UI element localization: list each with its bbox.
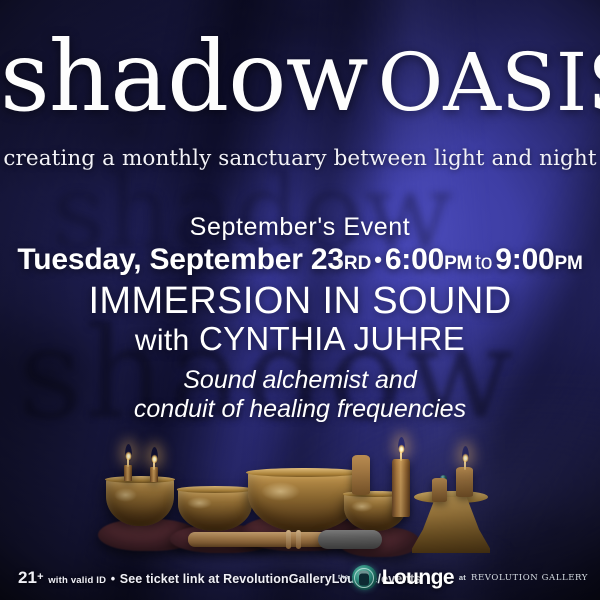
poster-content: shadowOASIS creating a monthly sanctuary… [0,0,600,600]
event-start-ampm: PM [444,253,472,274]
performer-description-line-2: conduit of healing frequencies [0,395,600,424]
lounge-emblem-icon [352,565,377,590]
event-performer-line: with CYNTHIA JUHRE [0,320,600,358]
event-start-time: 6:00 [385,243,444,276]
event-to-word: to [475,251,492,274]
logo-venue-name: Revolution Gallery [471,573,588,583]
age-plus-symbol: + [37,571,44,583]
logo-the-label: the [338,574,349,581]
event-separator: • [374,247,382,272]
title-word-shadow: shadow [0,20,368,133]
event-end-time: 9:00 [495,243,554,276]
logo-at-label: at [459,573,466,582]
performer-prefix: with [135,324,190,357]
performer-description-line-1: Sound alchemist and [0,366,600,395]
age-note: with valid ID [48,575,106,586]
event-end-ampm: PM [555,253,583,274]
event-date-line: Tuesday, September 23RD•6:00PMto9:00PM [0,243,600,277]
event-day-date: Tuesday, September 23 [17,243,344,276]
event-month-label: September's Event [0,213,600,242]
age-restriction: 21 [18,568,37,587]
event-poster: shadow shadow [0,0,600,600]
event-headline: IMMERSION IN SOUND [0,280,600,323]
poster-tagline: creating a monthly sanctuary between lig… [0,146,600,171]
footer-separator: • [111,572,115,586]
title-word-oasis: OASIS [378,36,600,129]
event-date-suffix: RD [344,253,371,274]
poster-title: shadowOASIS [0,28,600,125]
venue-logo[interactable]: the Lounge at Revolution Gallery [338,565,588,590]
logo-lounge-word: Lounge [382,566,454,590]
performer-name: CYNTHIA JUHRE [199,320,465,357]
